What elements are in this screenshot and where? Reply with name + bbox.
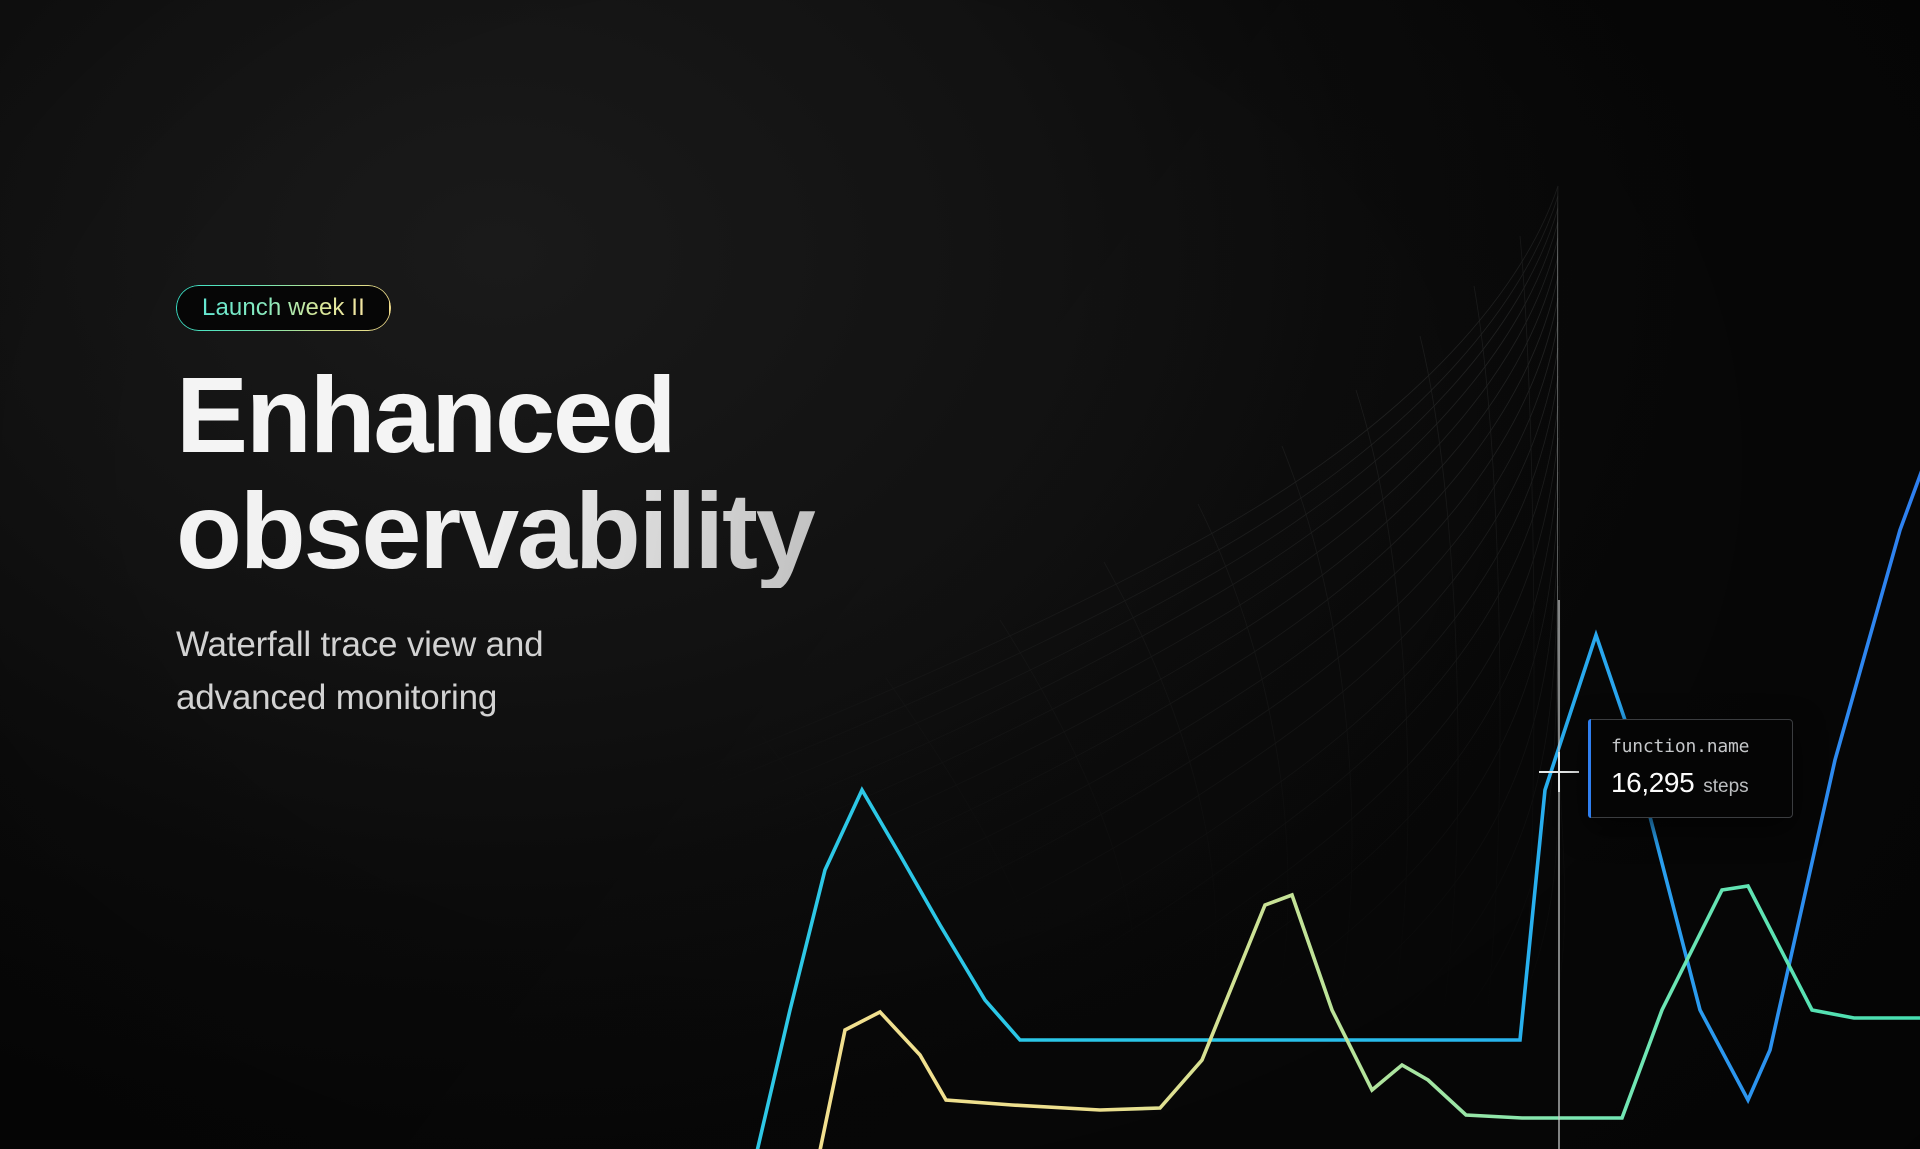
page-title-line-1: Enhanced	[176, 357, 996, 473]
hero-banner: function.name 16,295 steps Launch week I…	[0, 0, 1920, 1149]
tooltip-metric: 16,295 steps	[1611, 767, 1772, 799]
tooltip-value: 16,295	[1611, 767, 1694, 799]
page-subtitle: Waterfall trace view and advanced monito…	[176, 618, 996, 724]
chart-crosshair-marker[interactable]	[1539, 752, 1579, 792]
page-title-line-2: observability	[176, 473, 996, 589]
chart-cursor-line[interactable]	[1558, 600, 1560, 1149]
hero-copy: Launch week II Enhanced observability Wa…	[176, 285, 996, 724]
launch-week-badge-label: Launch week II	[202, 294, 365, 322]
page-title: Enhanced observability	[176, 357, 996, 588]
chart-tooltip: function.name 16,295 steps	[1588, 719, 1793, 818]
tooltip-function-name: function.name	[1611, 736, 1772, 757]
tooltip-unit: steps	[1703, 776, 1748, 798]
crosshair-vertical-arm	[1558, 752, 1560, 792]
chart-series-mint	[818, 886, 1920, 1149]
launch-week-badge[interactable]: Launch week II	[176, 285, 391, 331]
page-subtitle-line-2: advanced monitoring	[176, 678, 497, 717]
page-subtitle-line-1: Waterfall trace view and	[176, 625, 543, 664]
